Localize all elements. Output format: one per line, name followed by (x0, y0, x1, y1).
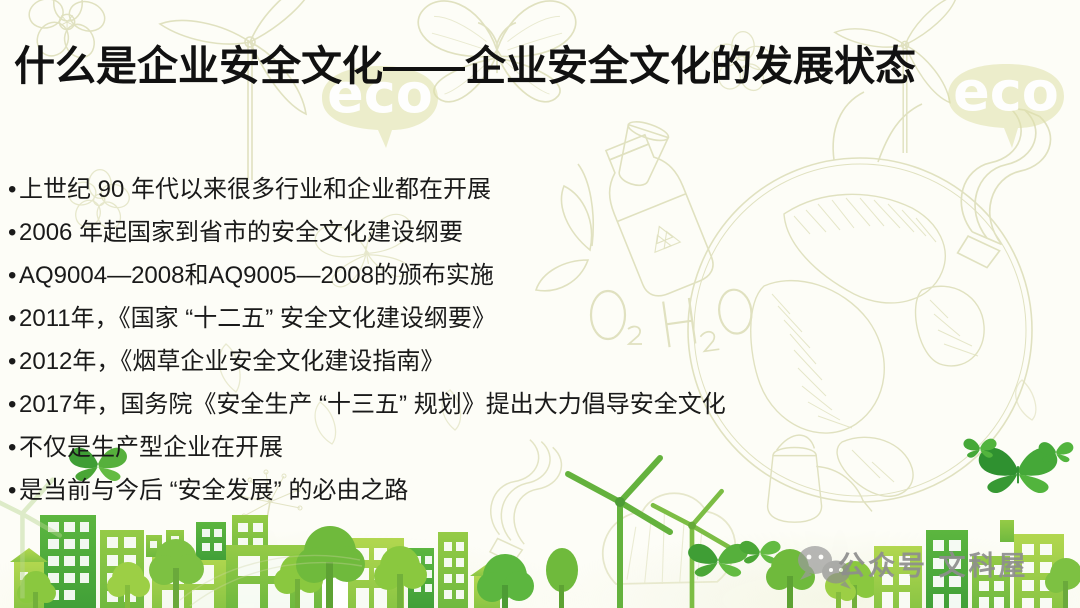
tree-group-left (17, 526, 427, 608)
list-item: •上世纪 90 年代以来很多行业和企业都在开展 (8, 168, 1008, 211)
bullet-list: •上世纪 90 年代以来很多行业和企业都在开展 •2006 年起国家到省市的安全… (8, 168, 1008, 512)
bullet-marker: • (8, 168, 19, 211)
bullet-marker: • (8, 254, 19, 297)
butterfly-centre-1 (688, 544, 748, 577)
bullet-marker: • (8, 383, 19, 426)
page-title: 什么是企业安全文化——企业安全文化的发展状态 (14, 42, 944, 90)
butterfly-centre-2 (739, 541, 780, 564)
eco-badge-right (948, 64, 1064, 148)
bullet-text: 2011年，《国家 “十二五” 安全文化建设纲要》 (19, 305, 496, 332)
wechat-watermark-text: 公众号 文科屋 (838, 551, 1029, 581)
natural-arc-sketch (180, 556, 362, 606)
shrub (546, 548, 578, 592)
bullet-marker: • (8, 297, 19, 340)
bullet-marker: • (8, 340, 19, 383)
eco-badge-right-text: eco (953, 60, 1059, 123)
bullet-text: 2006 年起国家到省市的安全文化建设纲要 (19, 219, 463, 246)
presentation-slide: eco eco 什么是企业安全文化——企业安全文化的发展状态 •上世纪 90 年… (0, 0, 1080, 608)
bullet-text: 上世纪 90 年代以来很多行业和企业都在开展 (19, 176, 491, 203)
butterfly-right-small-2 (1039, 442, 1074, 462)
bullet-marker: • (8, 426, 19, 469)
list-item: •AQ9004—2008和AQ9005—2008的颁布实施 (8, 254, 1008, 297)
bullet-marker: • (8, 469, 19, 512)
list-item: •2006 年起国家到省市的安全文化建设纲要 (8, 211, 1008, 254)
bullet-text: 2012年，《烟草企业安全文化建设指南》 (19, 348, 444, 375)
bullet-text: 2017年，国务院《安全生产 “十三五” 规划》提出大力倡导安全文化 (19, 391, 726, 418)
city-cluster-left (10, 515, 504, 608)
bullet-text: AQ9004—2008和AQ9005—2008的颁布实施 (19, 262, 494, 289)
bullet-text: 是当前与今后 “安全发展” 的必由之路 (19, 477, 408, 504)
list-item: •2012年，《烟草企业安全文化建设指南》 (8, 340, 1008, 383)
list-item: •2017年，国务院《安全生产 “十三五” 规划》提出大力倡导安全文化 (8, 383, 1008, 426)
list-item: •是当前与今后 “安全发展” 的必由之路 (8, 469, 1008, 512)
list-item: •不仅是生产型企业在开展 (8, 426, 1008, 469)
bullet-text: 不仅是生产型企业在开展 (19, 434, 283, 461)
bullet-marker: • (8, 211, 19, 254)
list-item: •2011年，《国家 “十二五” 安全文化建设纲要》 (8, 297, 1008, 340)
windmill-sketch-1 (160, 0, 316, 180)
